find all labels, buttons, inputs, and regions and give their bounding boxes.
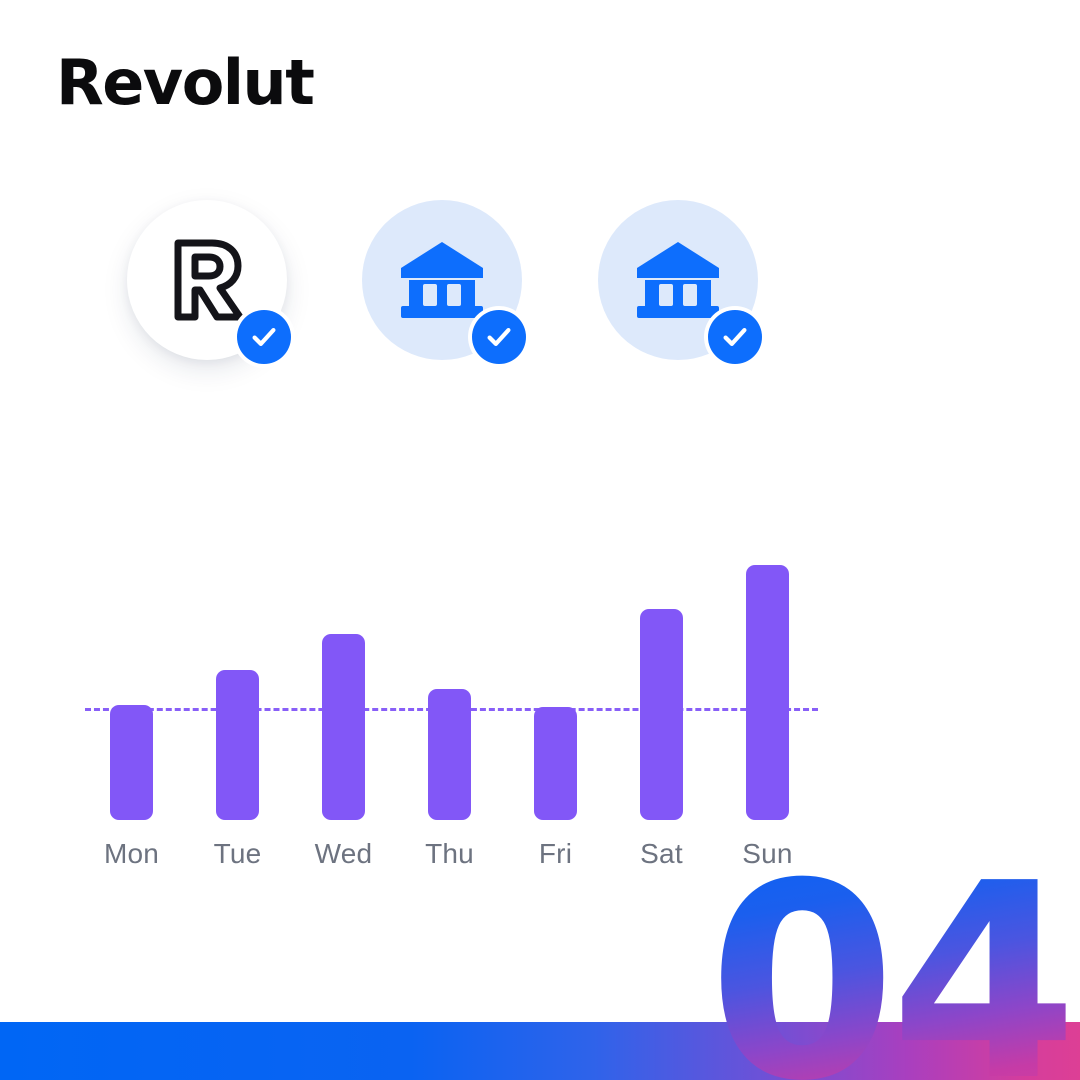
x-axis-label-wed: Wed — [284, 840, 404, 868]
badge-circle — [472, 310, 526, 364]
bank-icon — [635, 240, 721, 320]
verified-badge — [233, 306, 295, 368]
x-axis-label-fri: Fri — [496, 840, 616, 868]
bar-mon[interactable] — [110, 705, 153, 820]
bank-icon — [399, 240, 485, 320]
check-icon — [720, 322, 750, 352]
slide-number: 04 — [708, 848, 1072, 1080]
verified-badge — [468, 306, 530, 368]
poster-canvas: Revolut — [0, 0, 1080, 1080]
x-axis-label-sat: Sat — [602, 840, 722, 868]
check-icon — [249, 322, 279, 352]
x-axis-label-tue: Tue — [178, 840, 298, 868]
bar-sun[interactable] — [746, 565, 789, 820]
bar-sat[interactable] — [640, 609, 683, 820]
x-axis-label-thu: Thu — [390, 840, 510, 868]
badge-circle — [237, 310, 291, 364]
revolut-r-icon — [168, 237, 246, 323]
check-icon — [484, 322, 514, 352]
account-avatar-revolut[interactable] — [127, 200, 287, 360]
account-avatar-bank-2[interactable] — [598, 200, 758, 360]
bar-thu[interactable] — [428, 689, 471, 820]
linked-accounts-row — [127, 200, 827, 400]
brand-wordmark: Revolut — [56, 52, 313, 114]
x-axis-label-mon: Mon — [72, 840, 192, 868]
bar-wed[interactable] — [322, 634, 365, 820]
badge-circle — [708, 310, 762, 364]
bar-fri[interactable] — [534, 707, 577, 820]
bar-tue[interactable] — [216, 670, 259, 820]
account-avatar-bank-1[interactable] — [362, 200, 522, 360]
verified-badge — [704, 306, 766, 368]
